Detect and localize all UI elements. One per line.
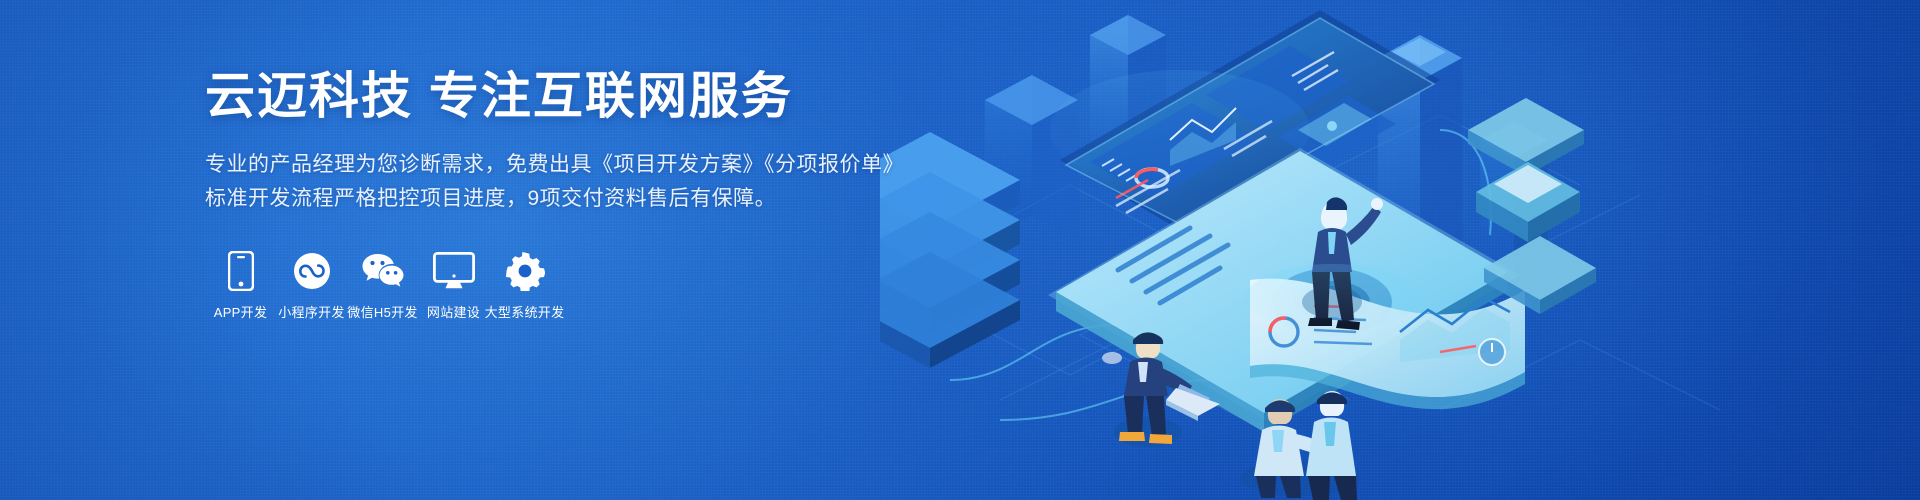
mobile-phone-icon (228, 250, 254, 292)
service-item-miniprogram[interactable]: 小程序开发 (276, 250, 347, 319)
service-item-system[interactable]: 大型系统开发 (489, 250, 560, 319)
monitor-icon (433, 250, 475, 292)
service-label-miniprogram: 小程序开发 (278, 306, 345, 319)
subtitle-line-2: 标准开发流程严格把控项目进度，9项交付资料售后有保障。 (205, 182, 905, 216)
service-label-wechat-h5: 微信H5开发 (347, 306, 417, 319)
gear-icon (505, 250, 545, 292)
service-item-website[interactable]: 网站建设 (418, 250, 489, 319)
service-list: APP开发 小程序开发 (205, 250, 905, 319)
service-label-system: 大型系统开发 (485, 306, 565, 319)
ribbon-gauge (1479, 339, 1505, 365)
service-item-app[interactable]: APP开发 (205, 250, 276, 319)
mini-program-icon (293, 250, 331, 292)
promo-banner: 云迈科技 专注互联网服务 专业的产品经理为您诊断需求，免费出具《项目开发方案》《… (0, 0, 1920, 500)
wechat-icon (361, 250, 405, 292)
page-title: 云迈科技 专注互联网服务 (205, 66, 905, 126)
service-item-wechat-h5[interactable]: 微信H5开发 (347, 250, 418, 319)
banner-content: 云迈科技 专注互联网服务 专业的产品经理为您诊断需求，免费出具《项目开发方案》《… (205, 66, 905, 319)
subtitle-line-1: 专业的产品经理为您诊断需求，免费出具《项目开发方案》《分项报价单》 (205, 148, 905, 182)
service-label-app: APP开发 (214, 306, 268, 319)
isometric-data-platform-illustration (880, 0, 1920, 500)
service-label-website: 网站建设 (427, 306, 480, 319)
